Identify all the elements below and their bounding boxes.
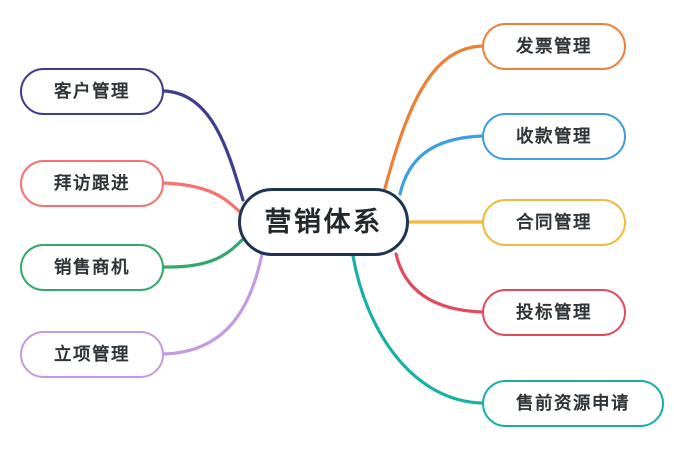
connector-left-3 [164, 254, 262, 354]
root-node-marketing-system[interactable]: 营销体系 [238, 188, 409, 256]
node-e58f91e7a5a8e7aea1e79086[interactable]: 发票管理 [482, 23, 626, 70]
node-e99480e594aee59586e69cba[interactable]: 销售商机 [20, 244, 164, 291]
branch-node-label: 立项管理 [54, 346, 130, 364]
node-e68b9ce8aebfe8b79fe8bf9b[interactable]: 拜访跟进 [20, 160, 164, 207]
connector-left-0 [164, 91, 243, 200]
branch-node-label: 客户管理 [54, 83, 130, 101]
branch-node-label: 销售商机 [54, 259, 130, 277]
branch-node-label: 收款管理 [516, 128, 592, 146]
connector-right-0 [385, 46, 482, 188]
branch-node-label: 拜访跟进 [54, 175, 130, 193]
connector-right-4 [353, 256, 482, 403]
node-e5aea2e688b7e7aea1e79086[interactable]: 客户管理 [20, 68, 164, 115]
node-e694b6e6acbee7aea1e79086[interactable]: 收款管理 [482, 113, 626, 160]
connector-right-1 [400, 136, 482, 194]
branch-node-label: 投标管理 [516, 304, 592, 322]
root-node-label: 营销体系 [265, 209, 383, 236]
mindmap-canvas: 客户管理拜访跟进销售商机立项管理 发票管理收款管理合同管理投标管理售前资源申请 … [0, 0, 674, 452]
node-e68a95e6a087e7aea1e79086[interactable]: 投标管理 [482, 289, 626, 336]
node-e594aee5898de8b584e6ba90e794b3e8afb7[interactable]: 售前资源申请 [482, 380, 664, 427]
connector-left-1 [164, 183, 240, 212]
node-e59088e5908ce7aea1e79086[interactable]: 合同管理 [482, 199, 626, 246]
branch-node-label: 售前资源申请 [516, 395, 630, 413]
branch-node-label: 发票管理 [516, 38, 592, 56]
node-e7ab8be9a1b9e7aea1e79086[interactable]: 立项管理 [20, 331, 164, 378]
connector-left-2 [164, 240, 242, 267]
branch-node-label: 合同管理 [516, 214, 592, 232]
connector-right-3 [396, 254, 482, 312]
